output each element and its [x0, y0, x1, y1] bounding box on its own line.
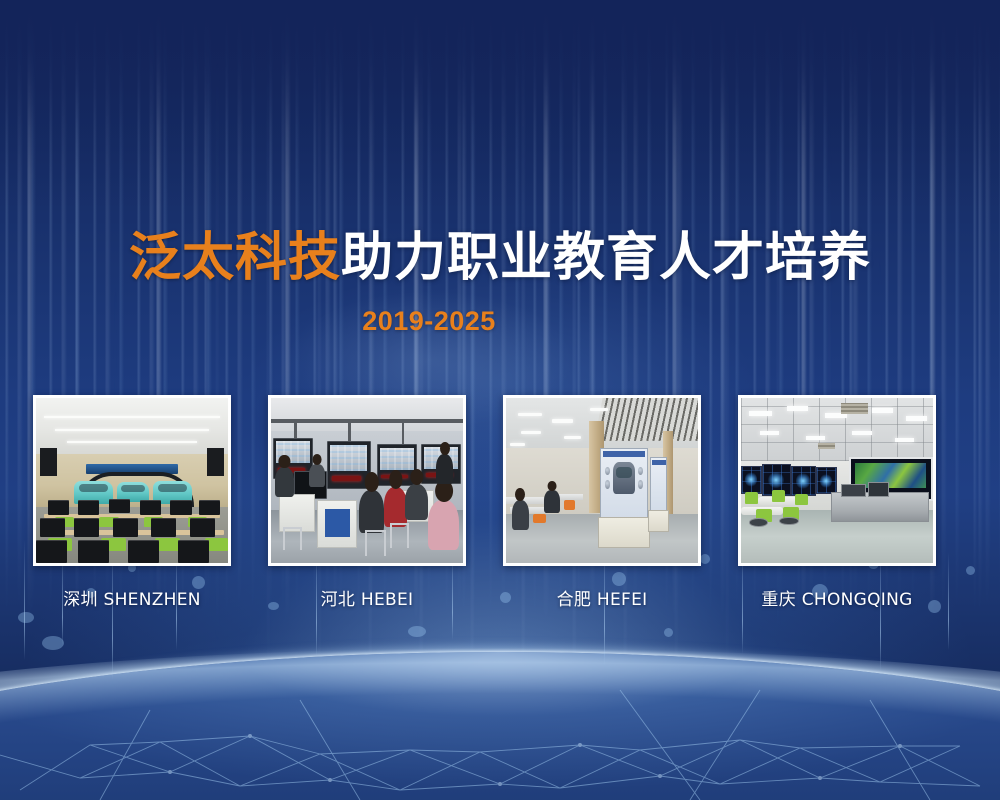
gallery-photo-shenzhen[interactable]: [33, 395, 231, 566]
bokeh-dot: [664, 628, 673, 637]
year-range-text: 2019-2025: [362, 306, 496, 336]
photo-chongqing-scene: [741, 398, 933, 563]
particle-streak: [24, 540, 25, 660]
title-brand-text: 泛太科技: [129, 228, 341, 288]
bokeh-dot: [42, 636, 64, 650]
photo-hebei-scene: [271, 398, 463, 563]
poster-canvas: 泛太科技助力职业教育人才培养 2019-2025: [0, 0, 1000, 800]
globe-body: [0, 652, 1000, 800]
caption-chongqing: 重庆 CHONGQING: [738, 585, 936, 610]
network-mesh-icon: [0, 540, 1000, 800]
caption-hebei: 河北 HEBEI: [268, 585, 466, 610]
title-rest-text: 助力职业教育人才培养: [341, 228, 871, 288]
gallery-photo-chongqing[interactable]: [738, 395, 936, 566]
page-title: 泛太科技助力职业教育人才培养: [0, 232, 1000, 284]
bokeh-dot: [966, 566, 975, 575]
gallery-photo-hefei[interactable]: [503, 395, 701, 566]
bokeh-dot: [612, 572, 626, 586]
photo-shenzhen-scene: [36, 398, 228, 563]
subtitle: 2019-2025: [0, 306, 1000, 337]
bokeh-dot: [408, 626, 426, 637]
photo-gallery: [33, 395, 967, 566]
earth-horizon: [0, 540, 1000, 800]
caption-hefei: 合肥 HEFEI: [503, 585, 701, 610]
sunrise-glow: [0, 540, 1000, 800]
photo-hefei-scene: [506, 398, 698, 563]
bokeh-dot: [18, 612, 34, 623]
globe-rim-light: [0, 648, 1000, 768]
gallery-captions: 深圳 SHENZHEN 河北 HEBEI 合肥 HEFEI 重庆 CHONGQI…: [33, 585, 967, 610]
caption-shenzhen: 深圳 SHENZHEN: [33, 585, 231, 610]
gallery-photo-hebei[interactable]: [268, 395, 466, 566]
